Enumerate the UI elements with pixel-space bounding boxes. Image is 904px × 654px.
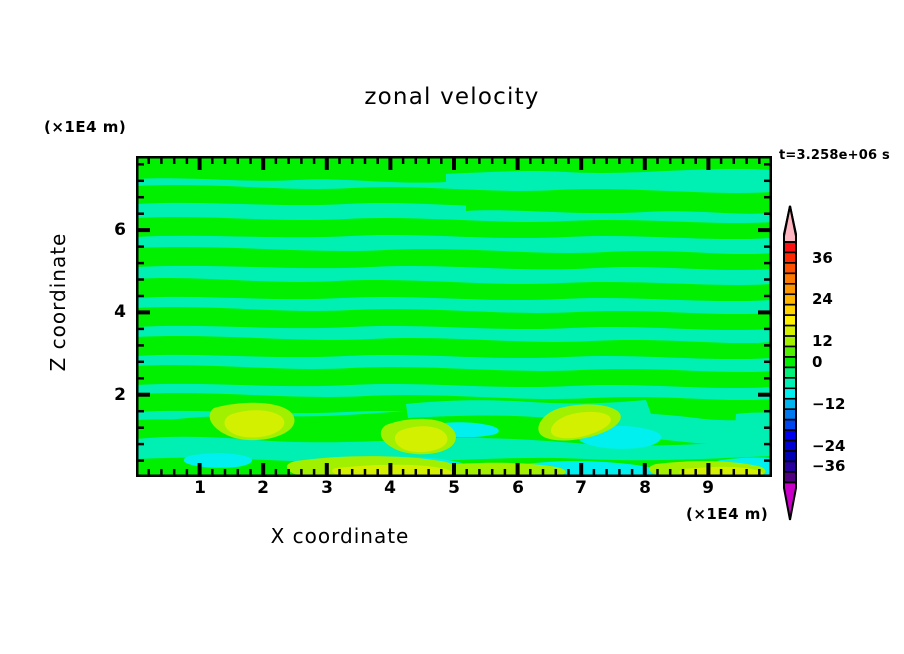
y-tick-label: 4 <box>106 302 126 322</box>
x-tick-label: 4 <box>384 478 396 498</box>
page-title: zonal velocity <box>0 84 904 110</box>
colorbar-tick-label: −36 <box>812 457 845 475</box>
colorbar-under-triangle <box>784 482 796 520</box>
y-axis-unit-label: (×1E4 m) <box>44 118 126 136</box>
contour-fill-group <box>136 156 772 477</box>
y-tick-label: 2 <box>106 385 126 405</box>
x-tick-label: 5 <box>448 478 460 498</box>
colorbar-tick-label: −24 <box>812 437 845 455</box>
x-axis-title: X coordinate <box>0 524 680 548</box>
x-axis-unit-label: (×1E4 m) <box>686 505 768 523</box>
colorbar-over-triangle <box>784 206 796 242</box>
x-tick-label: 3 <box>321 478 333 498</box>
x-tick-label: 8 <box>639 478 651 498</box>
timestamp-label: t=3.258e+06 s <box>779 148 890 163</box>
y-axis-title: Z coordinate <box>46 192 70 412</box>
y-tick-label: 6 <box>106 220 126 240</box>
x-tick-label: 1 <box>194 478 206 498</box>
x-tick-label: 9 <box>702 478 714 498</box>
x-tick-label: 6 <box>512 478 524 498</box>
colorbar[interactable] <box>776 204 816 522</box>
x-tick-label: 2 <box>257 478 269 498</box>
colorbar-bands <box>784 242 796 482</box>
contour-plot <box>136 156 772 477</box>
colorbar-tick-label: 0 <box>812 353 822 371</box>
x-tick-label: 7 <box>575 478 587 498</box>
colorbar-tick-label: 36 <box>812 249 833 267</box>
colorbar-tick-label: −12 <box>812 395 845 413</box>
colorbar-tick-label: 24 <box>812 290 833 308</box>
colorbar-tick-label: 12 <box>812 332 833 350</box>
